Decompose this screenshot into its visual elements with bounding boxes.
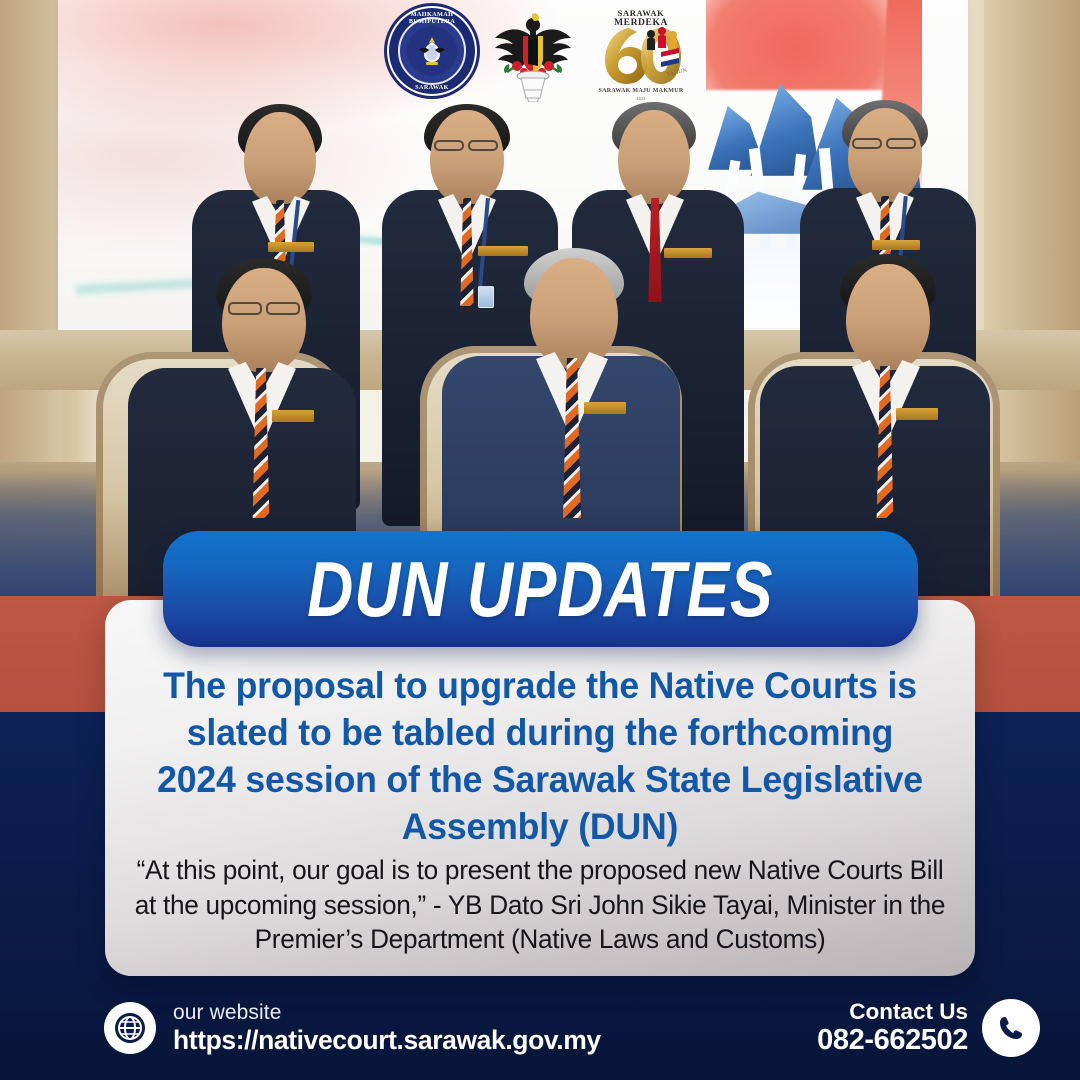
merdeka-line1: SARAWAK [589, 8, 693, 18]
sarawak-merdeka-60-logo-icon: SARAWAK MERDEKA [589, 6, 693, 102]
dun-updates-banner: DUN UPDATES [163, 531, 918, 647]
headline-text: The proposal to upgrade the Native Court… [146, 662, 935, 850]
mahkamah-bumiputera-sarawak-seal-icon: MAHKAMAH BUMIPUTERA SARAWAK [387, 6, 477, 96]
contact-label: Contact Us [817, 999, 968, 1024]
seal-text-bottom: SARAWAK [387, 84, 477, 91]
merdeka-tagline: SARAWAK MAJU MAKMUR [589, 88, 693, 94]
quote-text: “At this point, our goal is to present t… [134, 853, 947, 957]
website-label: our website [173, 1002, 601, 1024]
contact-number[interactable]: 082-662502 [817, 1024, 968, 1056]
seal-text-top: MAHKAMAH BUMIPUTERA [387, 11, 477, 25]
sarawak-coat-of-arms-icon [485, 6, 581, 102]
footer-row: our website https://nativecourt.sarawak.… [0, 976, 1080, 1080]
poster-root: MAHKAMAH BUMIPUTERA SARAWAK [0, 0, 1080, 1080]
contact-block[interactable]: Contact Us 082-662502 [817, 999, 1040, 1057]
banner-title: DUN UPDATES [307, 550, 773, 628]
website-block[interactable]: our website https://nativecourt.sarawak.… [104, 1002, 601, 1055]
merdeka-tagline-sub: 2023 [589, 96, 693, 101]
globe-icon [104, 1002, 156, 1054]
logo-row: MAHKAMAH BUMIPUTERA SARAWAK [0, 6, 1080, 102]
phone-icon[interactable] [982, 999, 1040, 1057]
content-card: The proposal to upgrade the Native Court… [105, 600, 975, 976]
website-url[interactable]: https://nativecourt.sarawak.gov.my [173, 1027, 601, 1055]
